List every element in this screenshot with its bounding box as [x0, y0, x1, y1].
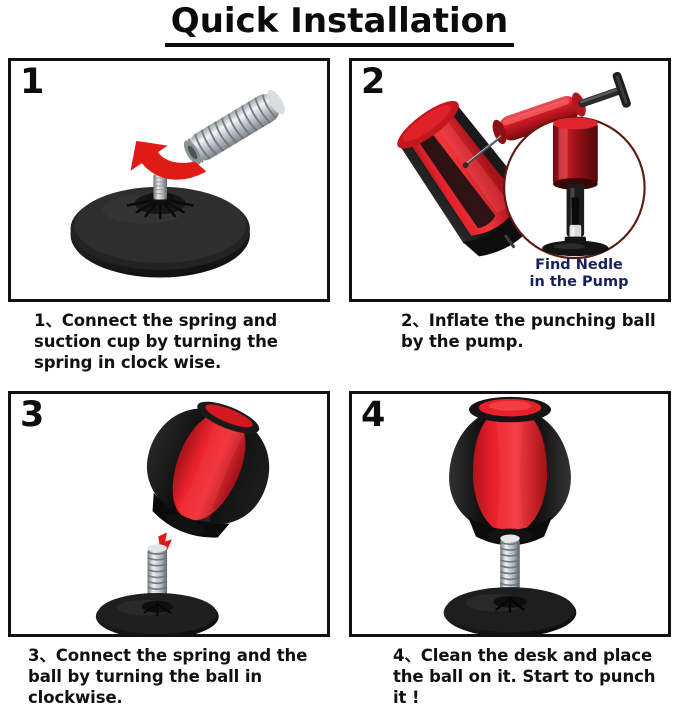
- step-2-caption: 2、Inflate the punching ball by the pump.: [349, 310, 671, 352]
- coil-spring-graphic: [180, 87, 289, 168]
- step-1: 1: [8, 58, 330, 388]
- page-title: Quick Installation: [165, 0, 514, 47]
- page-header: Quick Installation: [0, 0, 679, 52]
- step-4: 4: [349, 391, 671, 703]
- step-4-illustration-panel: 4: [349, 391, 671, 637]
- step-4-number: 4: [361, 395, 385, 435]
- step-4-artwork: [352, 394, 668, 634]
- suction-cup-base-graphic: [96, 593, 219, 634]
- step-3-artwork: [11, 394, 327, 634]
- step-2-number: 2: [361, 62, 385, 102]
- suction-cup-base-graphic: [70, 187, 249, 278]
- detail-circle-inset-graphic: [504, 118, 644, 258]
- installation-steps-grid: 1: [8, 58, 671, 703]
- step-1-number: 1: [20, 62, 44, 102]
- find-needle-inset-label: Find Nedle in the Pump: [504, 257, 654, 291]
- punching-ball-graphic: [126, 394, 289, 554]
- step-1-caption: 1、Connect the spring and suction cup by …: [8, 310, 330, 373]
- step-3: 3: [8, 391, 330, 703]
- step-2-illustration-panel: 2: [349, 58, 671, 302]
- step-3-number: 3: [20, 395, 44, 435]
- step-4-caption: 4、Clean the desk and place the ball on i…: [349, 645, 671, 708]
- step-1-artwork: [11, 61, 327, 299]
- assembled-punching-ball-graphic: [449, 397, 571, 545]
- step-3-illustration-panel: 3: [8, 391, 330, 637]
- step-2: 2: [349, 58, 671, 388]
- suction-cup-base-graphic: [444, 587, 577, 634]
- step-1-illustration-panel: 1: [8, 58, 330, 302]
- inset-label-line-2: in the Pump: [504, 274, 654, 291]
- step-3-caption: 3、Connect the spring and the ball by tur…: [8, 645, 330, 708]
- inset-label-line-1: Find Nedle: [504, 257, 654, 274]
